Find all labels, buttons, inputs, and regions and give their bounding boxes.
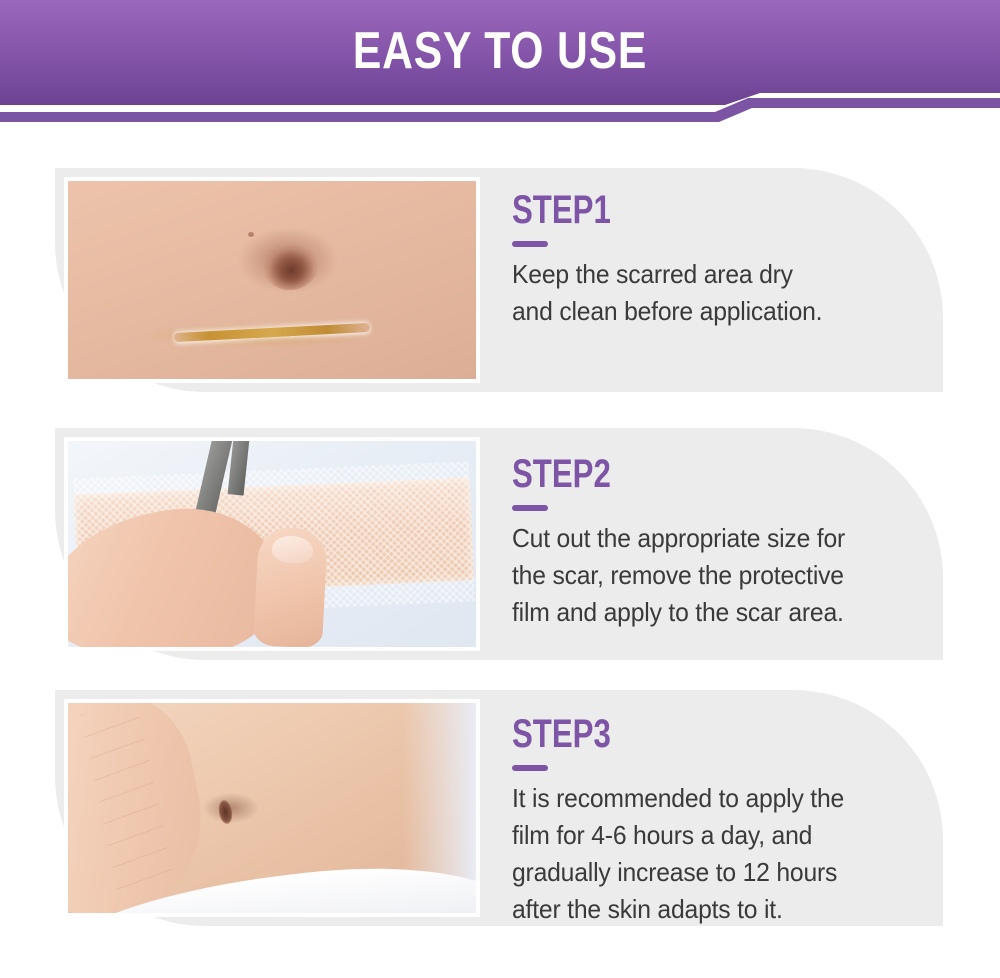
- step-card-1: STEP1 Keep the scarred area dry and clea…: [55, 168, 943, 392]
- scarred-abdomen-photo: [68, 181, 476, 379]
- hand: [68, 703, 219, 913]
- step-2-body: Cut out the appropriate size for the sca…: [512, 520, 883, 631]
- step-1-body: Keep the scarred area dry and clean befo…: [512, 256, 883, 330]
- step-card-2: STEP2 Cut out the appropriate size for t…: [55, 428, 943, 660]
- navel-detail: [261, 243, 321, 294]
- step-card-3: STEP3 It is recommended to apply the fil…: [55, 690, 943, 926]
- step-3-text-block: STEP3 It is recommended to apply the fil…: [512, 714, 903, 928]
- step-2-photo-frame: [64, 437, 480, 651]
- skin-mark: [248, 232, 254, 237]
- step-2-rule: [512, 505, 548, 511]
- step-3-rule: [512, 765, 548, 771]
- hand-on-abdomen-photo: [68, 703, 476, 913]
- step-1-photo-frame: [64, 177, 480, 383]
- step-3-body: It is recommended to apply the film for …: [512, 780, 883, 928]
- step-3-title: STEP3: [512, 714, 817, 754]
- step-1-title: STEP1: [512, 190, 817, 230]
- step-2-title: STEP2: [512, 454, 817, 494]
- step-3-photo-frame: [64, 699, 480, 917]
- banner-title: EASY TO USE: [90, 22, 910, 80]
- navel-detail: [217, 799, 234, 825]
- scissors-cutting-silicone-sheet-photo: [68, 441, 476, 647]
- header-banner: EASY TO USE: [0, 0, 1000, 130]
- step-2-text-block: STEP2 Cut out the appropriate size for t…: [512, 454, 903, 631]
- step-1-text-block: STEP1 Keep the scarred area dry and clea…: [512, 190, 903, 330]
- step-1-rule: [512, 241, 548, 247]
- scar-line: [174, 322, 370, 341]
